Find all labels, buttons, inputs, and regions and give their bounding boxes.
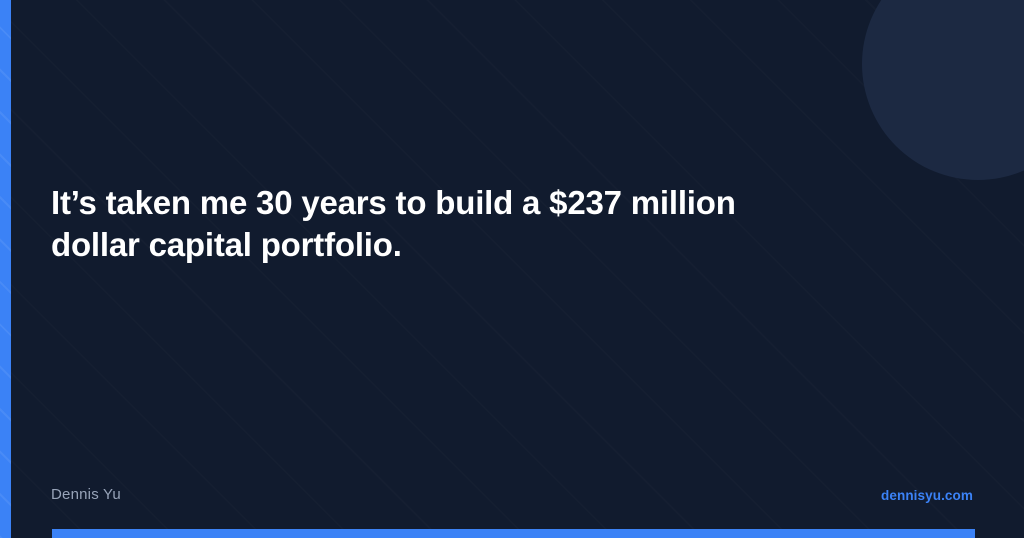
author-byline: Dennis Yu [51,486,121,503]
left-accent-stripe-texture [0,0,11,538]
website-link[interactable]: dennisyu.com [881,488,973,503]
circle-decoration-icon [862,0,1024,180]
quote-slide: It’s taken me 30 years to build a $237 m… [0,0,1024,538]
page-title: It’s taken me 30 years to build a $237 m… [51,182,751,266]
left-accent-strip [0,0,11,538]
bottom-accent-bar [52,529,975,538]
